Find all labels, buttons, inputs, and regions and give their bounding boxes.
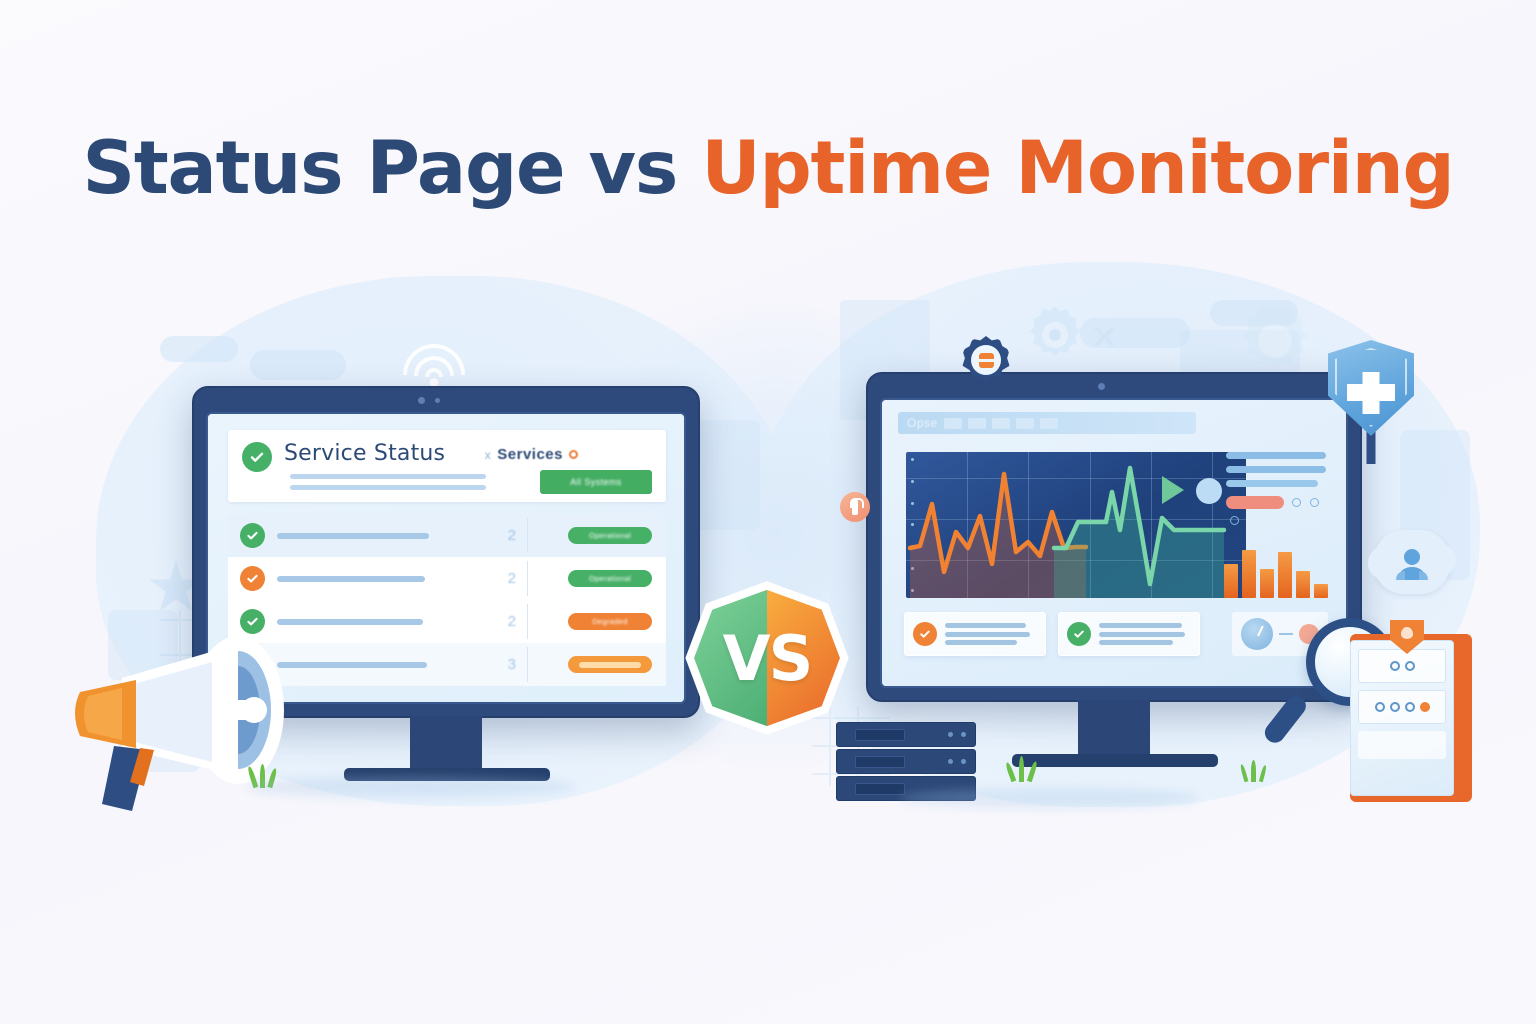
camera-dot: [418, 397, 425, 404]
row-indicator: [1390, 702, 1400, 712]
uptime-dashboard-screen: Opse: [882, 400, 1346, 686]
server-led: [961, 732, 966, 737]
brand-name: Services: [497, 446, 563, 463]
report-card-body: [1350, 640, 1454, 796]
stat-card-lines: [945, 620, 1037, 649]
placeholder-line: [290, 474, 486, 479]
report-card-row: [1358, 690, 1446, 724]
chart-bar: [1278, 552, 1292, 598]
indicator-circle: [1292, 498, 1301, 507]
sidebar-pill-row: [1226, 494, 1326, 530]
gear-badge-core: [971, 345, 1001, 375]
indicator-circle: [1310, 498, 1319, 507]
ground-shadow: [900, 788, 1200, 808]
row-divider: [527, 604, 528, 639]
camera-dot: [435, 398, 440, 403]
cloud-user-icon: [1374, 530, 1450, 594]
row-count: 3: [508, 656, 516, 673]
status-circle-icon: [1196, 478, 1222, 504]
row-divider: [527, 647, 528, 682]
server-unit: [836, 749, 976, 774]
camera-dot: [1098, 383, 1105, 390]
grass-decoration: [1004, 756, 1048, 782]
topbar-segment: [1016, 418, 1034, 429]
row-count: 2: [508, 570, 516, 587]
sidebar-line: [1226, 466, 1326, 473]
lock-icon: [840, 492, 870, 522]
sidebar-line: [1226, 452, 1326, 459]
ground-shadow: [246, 776, 576, 798]
shield-cross-horizontal: [1347, 384, 1395, 401]
x-marker-decoration: ✕: [1090, 318, 1119, 358]
title-part-orange: Uptime Monitoring: [701, 126, 1453, 211]
bar-chart: [1224, 540, 1328, 598]
dashboard-topbar: Opse: [898, 412, 1196, 434]
gear-decoration-icon: [1020, 300, 1090, 370]
response-time-chart: [906, 452, 1246, 598]
wifi-icon: [398, 344, 470, 392]
monitor-neck: [1078, 700, 1150, 758]
row-count: 2: [508, 613, 516, 630]
all-systems-badge[interactable]: All Systems: [540, 470, 652, 494]
row-indicator: [1390, 661, 1400, 671]
chart-bar: [1224, 564, 1238, 598]
placeholder-line: [290, 485, 486, 490]
service-brand-logo: x Services: [485, 446, 578, 463]
all-systems-badge-label: All Systems: [570, 477, 621, 487]
square-decoration: [690, 420, 760, 530]
server-led: [948, 759, 953, 764]
chart-bar: [1314, 584, 1328, 598]
server-led: [961, 759, 966, 764]
row-status-pill[interactable]: [568, 656, 652, 673]
service-row[interactable]: 2 Operational: [228, 557, 666, 600]
service-status-title: Service Status: [284, 441, 445, 466]
row-status-pill[interactable]: Degraded: [568, 613, 652, 630]
row-indicator: [1405, 702, 1415, 712]
indicator-circle: [1230, 516, 1239, 525]
vs-badge: VS: [682, 578, 852, 738]
server-slot: [855, 783, 905, 795]
row-progress-fill: [579, 662, 641, 668]
service-row[interactable]: 2 Operational: [228, 514, 666, 557]
row-status-pill[interactable]: Operational: [568, 570, 652, 587]
server-unit: [836, 722, 976, 747]
illustration-stage: ✕ Status Page vs Uptime Monitoring: [0, 0, 1536, 1024]
row-count: 2: [508, 527, 516, 544]
chart-bar: [1260, 569, 1274, 598]
row-status-label: Degraded: [592, 617, 627, 626]
title-part-navy: Status Page vs: [82, 126, 701, 211]
brand-x-mark: x: [485, 448, 492, 462]
stat-card-lines: [1099, 620, 1191, 649]
stat-card[interactable]: [904, 612, 1046, 656]
topbar-title: Opse: [907, 416, 938, 430]
monitor-screen: Opse: [880, 398, 1348, 688]
cloud-decoration: [250, 350, 346, 380]
stat-check-icon: [1067, 622, 1091, 646]
report-card-footer: [1358, 731, 1446, 759]
gear-badge-icon: [962, 336, 1010, 384]
shield-check-icon: [1328, 340, 1414, 436]
dashboard-sidebar: [1226, 452, 1326, 530]
stat-check-icon: [913, 622, 937, 646]
page-title: Status Page vs Uptime Monitoring: [0, 126, 1536, 211]
row-label-bar: [277, 619, 423, 625]
chart-bar: [1296, 571, 1310, 598]
row-status-pill[interactable]: Operational: [568, 527, 652, 544]
brand-dot-icon: [569, 450, 578, 459]
topbar-segment: [1040, 418, 1058, 429]
cloud-decoration: [160, 336, 238, 362]
server-led: [948, 732, 953, 737]
row-check-icon: [240, 566, 265, 591]
row-indicator-active: [1420, 702, 1430, 712]
row-label-bar: [277, 533, 429, 539]
alert-pill: [1226, 496, 1284, 509]
user-icon: [1390, 544, 1434, 584]
row-indicator: [1375, 702, 1385, 712]
topbar-segment: [944, 418, 962, 429]
header-placeholder-lines: [290, 474, 490, 496]
server-slot: [855, 729, 905, 741]
topbar-segment: [992, 418, 1010, 429]
stat-card[interactable]: [1058, 612, 1200, 656]
row-indicator: [1405, 661, 1415, 671]
row-label-bar: [277, 576, 425, 582]
server-slot: [855, 756, 905, 768]
report-card-row: [1358, 649, 1446, 683]
status-check-icon: [242, 442, 272, 472]
topbar-segment: [968, 418, 986, 429]
chart-bar: [1242, 550, 1256, 598]
monitor-neck: [410, 716, 482, 772]
grass-decoration: [1238, 760, 1278, 782]
speed-gauge-icon: [1241, 618, 1273, 650]
row-divider: [527, 561, 528, 596]
chart-series-svg: [906, 452, 1246, 598]
row-status-label: Operational: [589, 531, 631, 540]
row-check-icon: [240, 523, 265, 548]
row-divider: [527, 518, 528, 553]
row-check-icon: [240, 609, 265, 634]
vs-badge-label: VS: [682, 578, 852, 738]
play-triangle-icon[interactable]: [1162, 476, 1184, 504]
sidebar-line: [1226, 480, 1318, 487]
report-card-icon: [1350, 634, 1472, 802]
service-status-header-card: Service Status x Services All Systems: [228, 430, 666, 502]
row-status-label: Operational: [589, 574, 631, 583]
